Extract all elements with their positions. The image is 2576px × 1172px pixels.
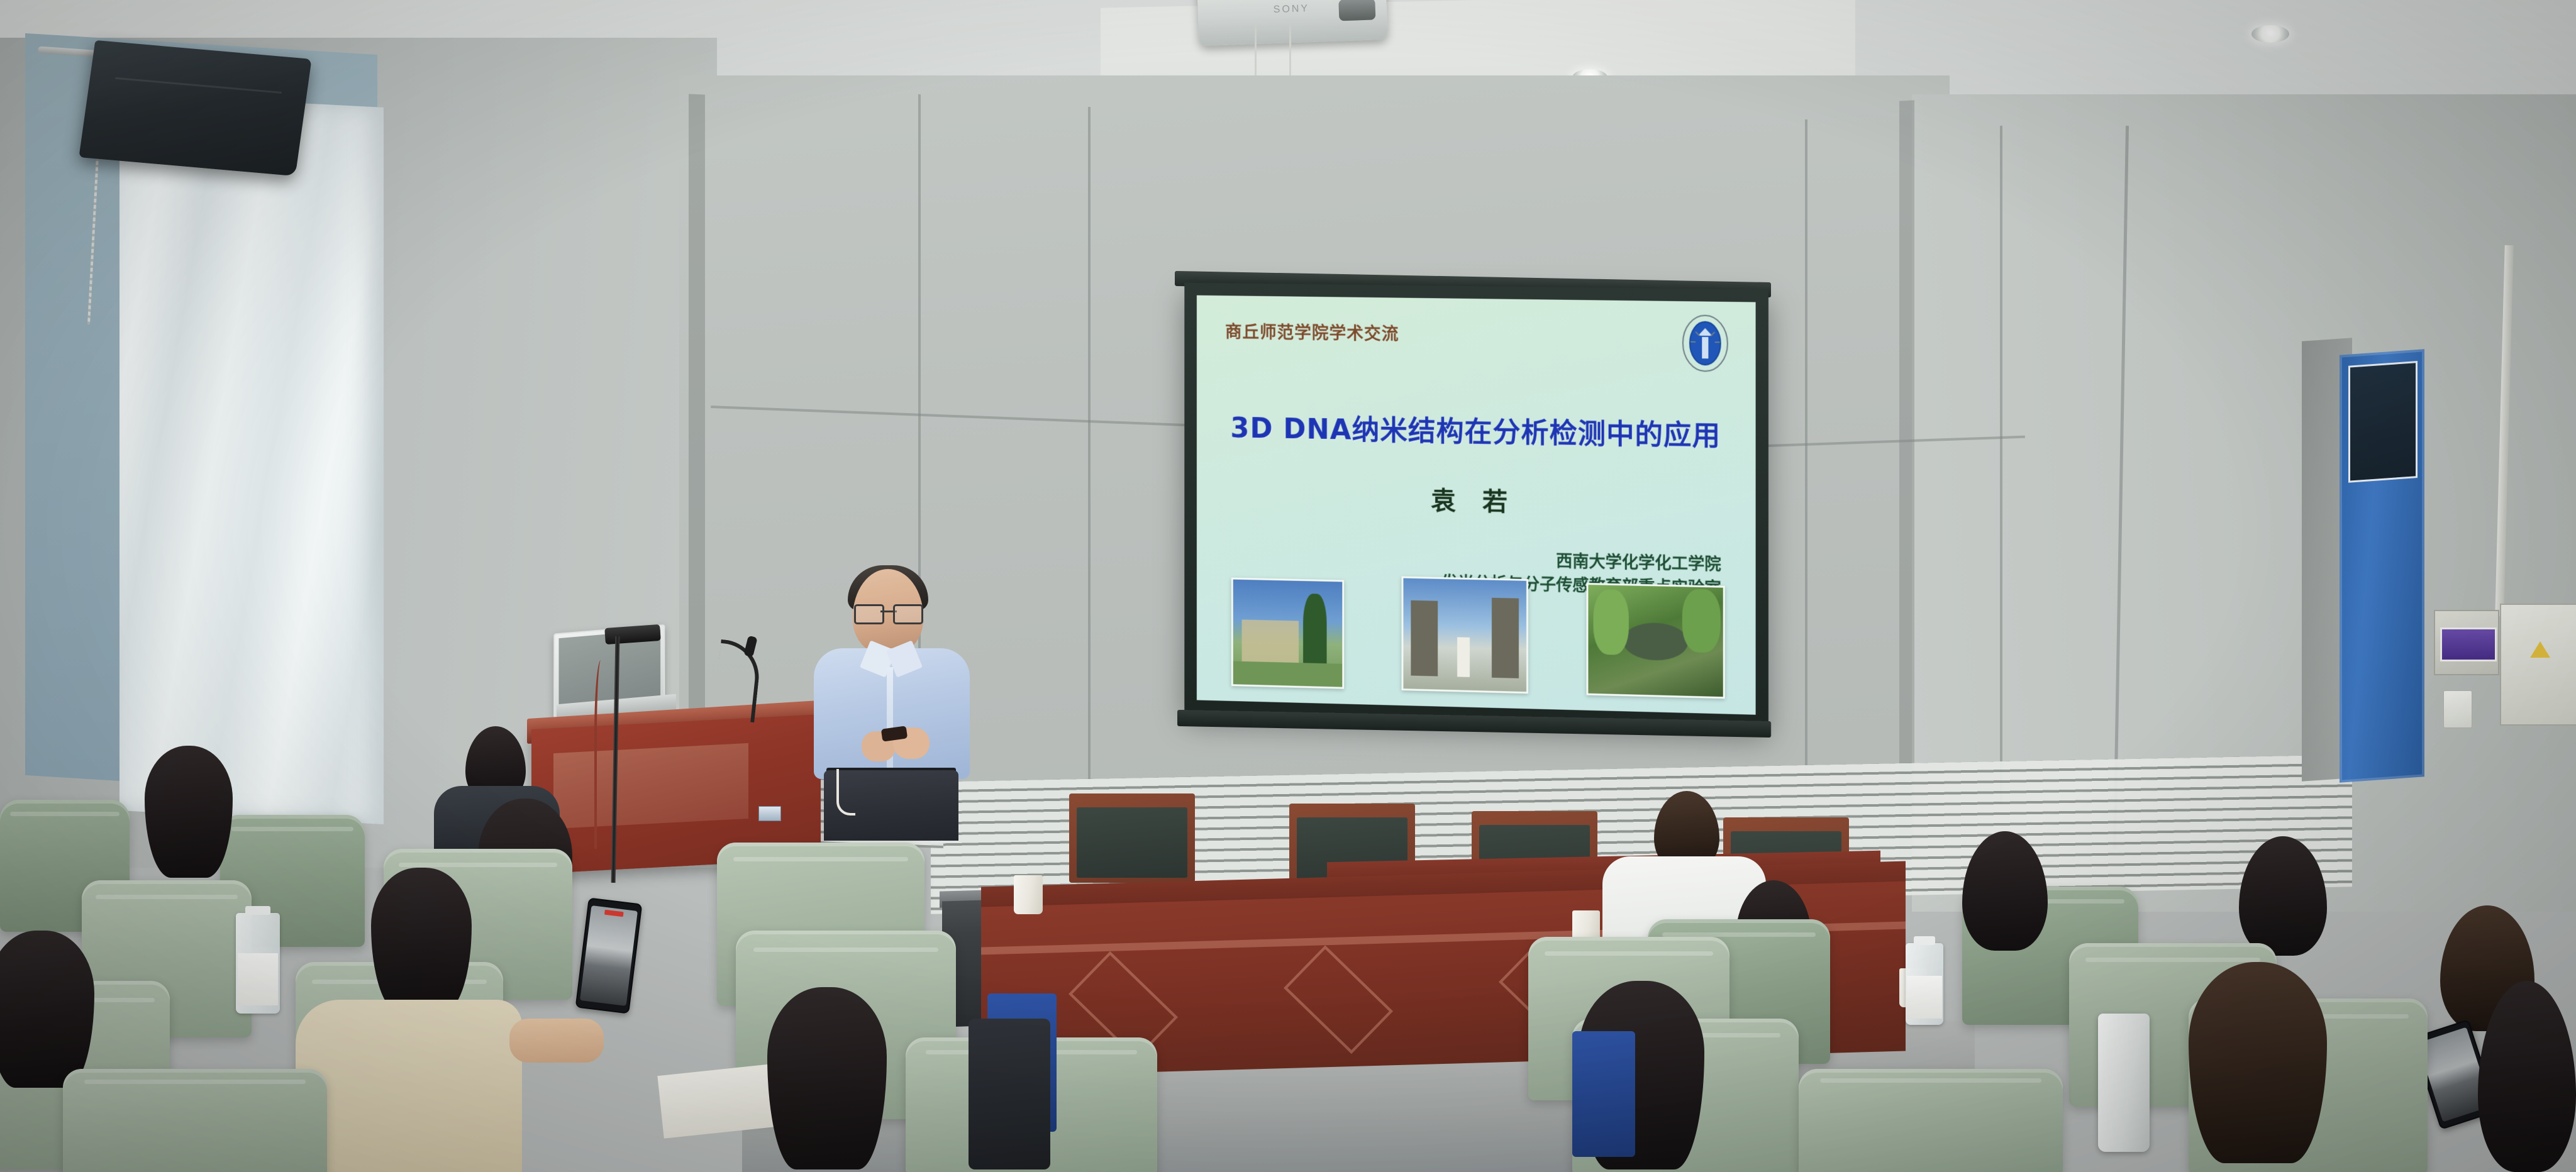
bottle-label — [1907, 976, 1941, 1019]
wall-seam — [1899, 100, 1914, 855]
audience-head-long-hair — [0, 931, 94, 1088]
presenting-speaker — [799, 569, 987, 839]
presenter-shirt-placket — [887, 667, 893, 780]
projection-screen: 商丘师范学院学术交流 3D DNA纳米结构在分析检测中的应用 袁 若 西南大学化… — [1184, 283, 1768, 728]
slide-title: 3D DNA纳米结构在分析检测中的应用 — [1197, 405, 1756, 455]
slide-photo-gate — [1401, 577, 1528, 694]
audience-seat[interactable] — [1799, 1069, 2063, 1172]
wooden-chair[interactable] — [1069, 793, 1195, 883]
smartphone[interactable] — [575, 897, 643, 1014]
speaker-grille-seam — [115, 77, 282, 94]
university-emblem-icon — [1680, 312, 1730, 374]
audience-head-long-hair — [2189, 962, 2327, 1163]
presentation-slide: 商丘师范学院学术交流 3D DNA纳米结构在分析检测中的应用 袁 若 西南大学化… — [1197, 296, 1756, 715]
blue-chair-back[interactable] — [1572, 1031, 1635, 1157]
door-window — [2348, 361, 2418, 483]
table-panel-diamond — [1284, 945, 1393, 1054]
slide-photo-garden — [1586, 583, 1724, 699]
thermos-flask[interactable] — [2098, 1014, 2150, 1152]
audience-seat[interactable] — [63, 1069, 327, 1172]
warning-triangle-icon — [2530, 641, 2550, 658]
audience-head-long-hair — [145, 746, 233, 878]
lectern-name-plate — [758, 806, 781, 821]
slide-photo-strip — [1231, 579, 1725, 699]
room-door[interactable] — [2340, 349, 2424, 782]
lectern-front-panel — [553, 743, 748, 829]
audience-beige-jacket — [296, 1000, 522, 1172]
light-switch[interactable] — [2443, 690, 2472, 728]
audience-head — [371, 868, 472, 1012]
audience-hand — [509, 1019, 604, 1063]
projector-lens — [1338, 0, 1375, 21]
panel-display-screen — [2440, 627, 2497, 661]
water-bottle[interactable] — [1906, 943, 1943, 1025]
eyeglasses-icon — [854, 604, 923, 621]
microphone-cable — [594, 660, 611, 849]
wall-speaker — [79, 40, 311, 176]
wall-cabinet[interactable] — [2500, 604, 2576, 726]
audience-head-long-hair — [767, 987, 887, 1169]
phone-screen — [580, 905, 638, 1005]
electrical-control-panel[interactable] — [2434, 610, 2499, 675]
slide-speaker-name: 袁 若 — [1197, 476, 1756, 523]
projector-brand-label: SONY — [1273, 3, 1309, 16]
wall-panel-seam — [1805, 119, 1807, 799]
lecture-hall-photo: SONY 商丘师范学院学术交流 — [0, 0, 2576, 1172]
window-curtain — [119, 94, 384, 824]
ceiling-downlight — [2251, 25, 2289, 43]
wall-panel-seam — [2000, 126, 2002, 805]
paper-cup[interactable] — [1014, 875, 1043, 914]
presenter-lanyard — [836, 769, 855, 815]
wall-panel-seam — [1088, 107, 1091, 786]
water-bottle[interactable] — [236, 913, 280, 1014]
slide-photo-building — [1231, 578, 1344, 689]
slide-kicker-text: 商丘师范学院学术交流 — [1225, 318, 1399, 345]
backpack[interactable] — [969, 1019, 1050, 1169]
bottle-label — [238, 953, 278, 1005]
bottle-cap — [1914, 936, 1935, 945]
bottle-cap — [245, 906, 270, 915]
